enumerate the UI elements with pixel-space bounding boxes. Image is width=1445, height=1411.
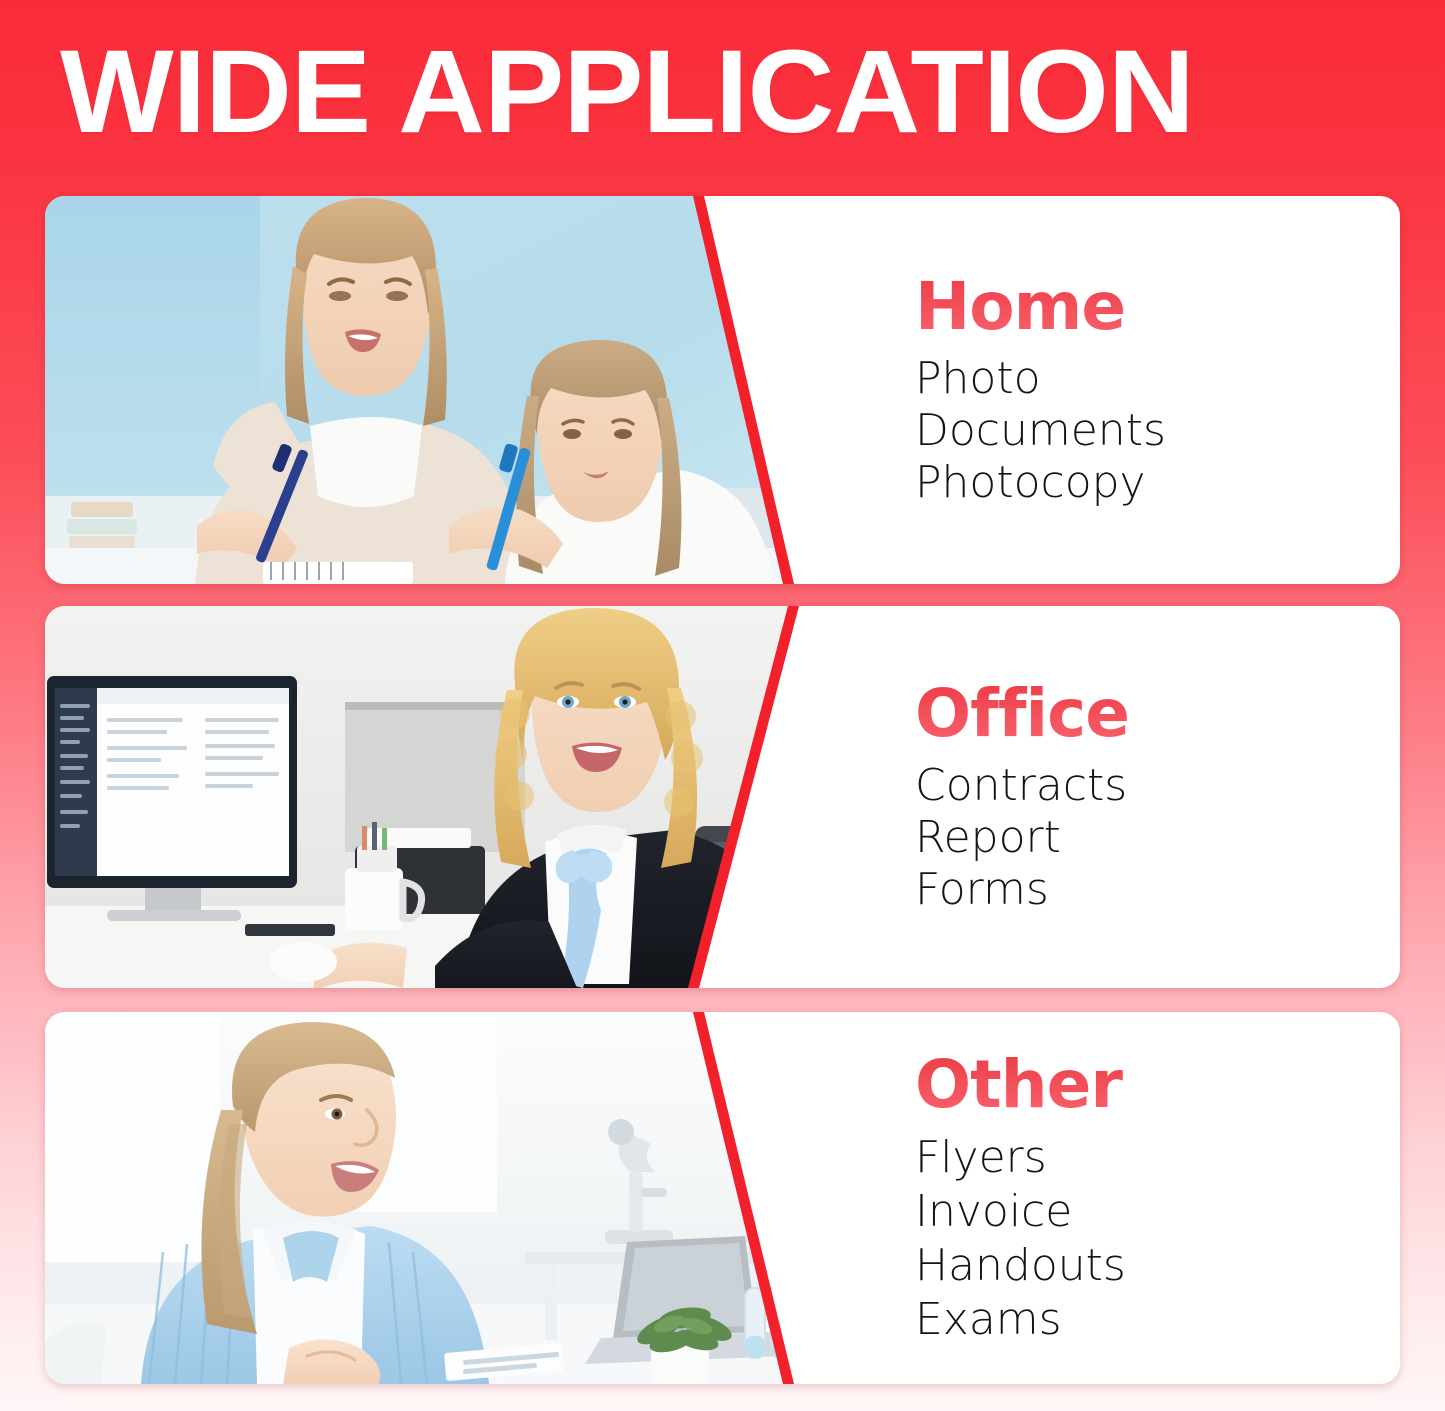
application-card-other: Other Flyers Invoice Handouts Exams bbox=[45, 1012, 1400, 1384]
card-heading-home: Home bbox=[915, 271, 1400, 342]
list-item: Photocopy bbox=[915, 457, 1400, 509]
list-item: Handouts bbox=[915, 1239, 1400, 1293]
photo-home bbox=[45, 196, 835, 584]
card-heading-other: Other bbox=[915, 1049, 1400, 1120]
feature-list-home: Photo Documents Photocopy bbox=[915, 353, 1400, 509]
text-pane-office: Office Contracts Report Forms bbox=[800, 606, 1400, 988]
photo-other bbox=[45, 1012, 835, 1384]
feature-list-other: Flyers Invoice Handouts Exams bbox=[915, 1131, 1400, 1347]
card-heading-office: Office bbox=[915, 678, 1400, 749]
list-item: Documents bbox=[915, 405, 1400, 457]
list-item: Flyers bbox=[915, 1131, 1400, 1185]
title-bar: WIDE APPLICATION bbox=[0, 0, 1445, 182]
photo-office-illustration bbox=[45, 606, 835, 988]
text-pane-other: Other Flyers Invoice Handouts Exams bbox=[800, 1012, 1400, 1384]
application-card-office: Office Contracts Report Forms bbox=[45, 606, 1400, 988]
text-pane-home: Home Photo Documents Photocopy bbox=[800, 196, 1400, 584]
photo-other-illustration bbox=[45, 1012, 835, 1384]
photo-home-illustration bbox=[45, 196, 835, 584]
list-item: Photo bbox=[915, 353, 1400, 405]
page-title: WIDE APPLICATION bbox=[60, 33, 1194, 151]
list-item: Invoice bbox=[915, 1185, 1400, 1239]
application-card-home: Home Photo Documents Photocopy bbox=[45, 196, 1400, 584]
photo-office bbox=[45, 606, 835, 988]
list-item: Forms bbox=[915, 864, 1400, 916]
list-item: Report bbox=[915, 812, 1400, 864]
feature-list-office: Contracts Report Forms bbox=[915, 760, 1400, 916]
list-item: Contracts bbox=[915, 760, 1400, 812]
list-item: Exams bbox=[915, 1293, 1400, 1347]
